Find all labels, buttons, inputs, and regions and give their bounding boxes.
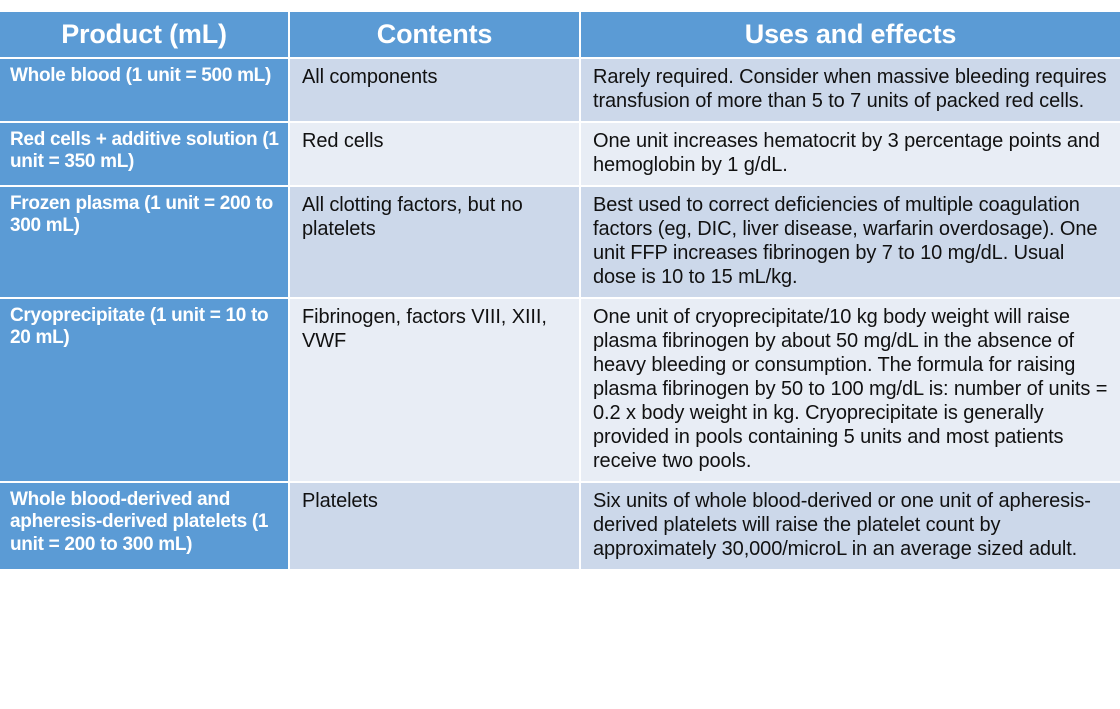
product-label: Red cells + additive solution (1 unit = … xyxy=(10,129,280,174)
column-header-product: Product (mL) xyxy=(0,12,290,57)
cell-product: Frozen plasma (1 unit = 200 to 300 mL) xyxy=(0,185,290,297)
product-label: Frozen plasma (1 unit = 200 to 300 mL) xyxy=(10,193,280,238)
cell-product: Whole blood-derived and apheresis-derive… xyxy=(0,481,290,569)
cell-product: Cryoprecipitate (1 unit = 10 to 20 mL) xyxy=(0,297,290,481)
uses-text: Six units of whole blood-derived or one … xyxy=(593,489,1110,561)
contents-text: Red cells xyxy=(302,129,569,153)
uses-text: One unit increases hematocrit by 3 perce… xyxy=(593,129,1110,177)
cell-product: Whole blood (1 unit = 500 mL) xyxy=(0,57,290,121)
cell-contents: Red cells xyxy=(290,121,581,185)
uses-text: One unit of cryoprecipitate/10 kg body w… xyxy=(593,305,1110,473)
contents-text: All clotting factors, but no platelets xyxy=(302,193,569,241)
column-header-contents: Contents xyxy=(290,12,581,57)
cell-contents: All components xyxy=(290,57,581,121)
cell-uses-and-effects: One unit increases hematocrit by 3 perce… xyxy=(581,121,1120,185)
contents-text: Platelets xyxy=(302,489,569,513)
cell-uses-and-effects: Rarely required. Consider when massive b… xyxy=(581,57,1120,121)
table-header: Product (mL) Contents Uses and effects xyxy=(0,12,1120,57)
table-row: Frozen plasma (1 unit = 200 to 300 mL) A… xyxy=(0,185,1120,297)
product-label: Whole blood-derived and apheresis-derive… xyxy=(10,489,280,556)
cell-product: Red cells + additive solution (1 unit = … xyxy=(0,121,290,185)
table-body: Whole blood (1 unit = 500 mL) All compon… xyxy=(0,57,1120,569)
table-row: Whole blood (1 unit = 500 mL) All compon… xyxy=(0,57,1120,121)
product-label: Cryoprecipitate (1 unit = 10 to 20 mL) xyxy=(10,305,280,350)
cell-contents: Fibrinogen, factors VIII, XIII, VWF xyxy=(290,297,581,481)
cell-contents: Platelets xyxy=(290,481,581,569)
cell-contents: All clotting factors, but no platelets xyxy=(290,185,581,297)
table-header-row: Product (mL) Contents Uses and effects xyxy=(0,12,1120,57)
table-row: Cryoprecipitate (1 unit = 10 to 20 mL) F… xyxy=(0,297,1120,481)
blood-products-table-container: Product (mL) Contents Uses and effects W… xyxy=(0,12,1120,569)
uses-text: Best used to correct deficiencies of mul… xyxy=(593,193,1110,289)
product-label: Whole blood (1 unit = 500 mL) xyxy=(10,65,280,87)
cell-uses-and-effects: Best used to correct deficiencies of mul… xyxy=(581,185,1120,297)
cell-uses-and-effects: One unit of cryoprecipitate/10 kg body w… xyxy=(581,297,1120,481)
blood-products-table: Product (mL) Contents Uses and effects W… xyxy=(0,12,1120,569)
column-header-uses-and-effects: Uses and effects xyxy=(581,12,1120,57)
cell-uses-and-effects: Six units of whole blood-derived or one … xyxy=(581,481,1120,569)
uses-text: Rarely required. Consider when massive b… xyxy=(593,65,1110,113)
table-row: Whole blood-derived and apheresis-derive… xyxy=(0,481,1120,569)
contents-text: All components xyxy=(302,65,569,89)
contents-text: Fibrinogen, factors VIII, XIII, VWF xyxy=(302,305,569,353)
table-row: Red cells + additive solution (1 unit = … xyxy=(0,121,1120,185)
